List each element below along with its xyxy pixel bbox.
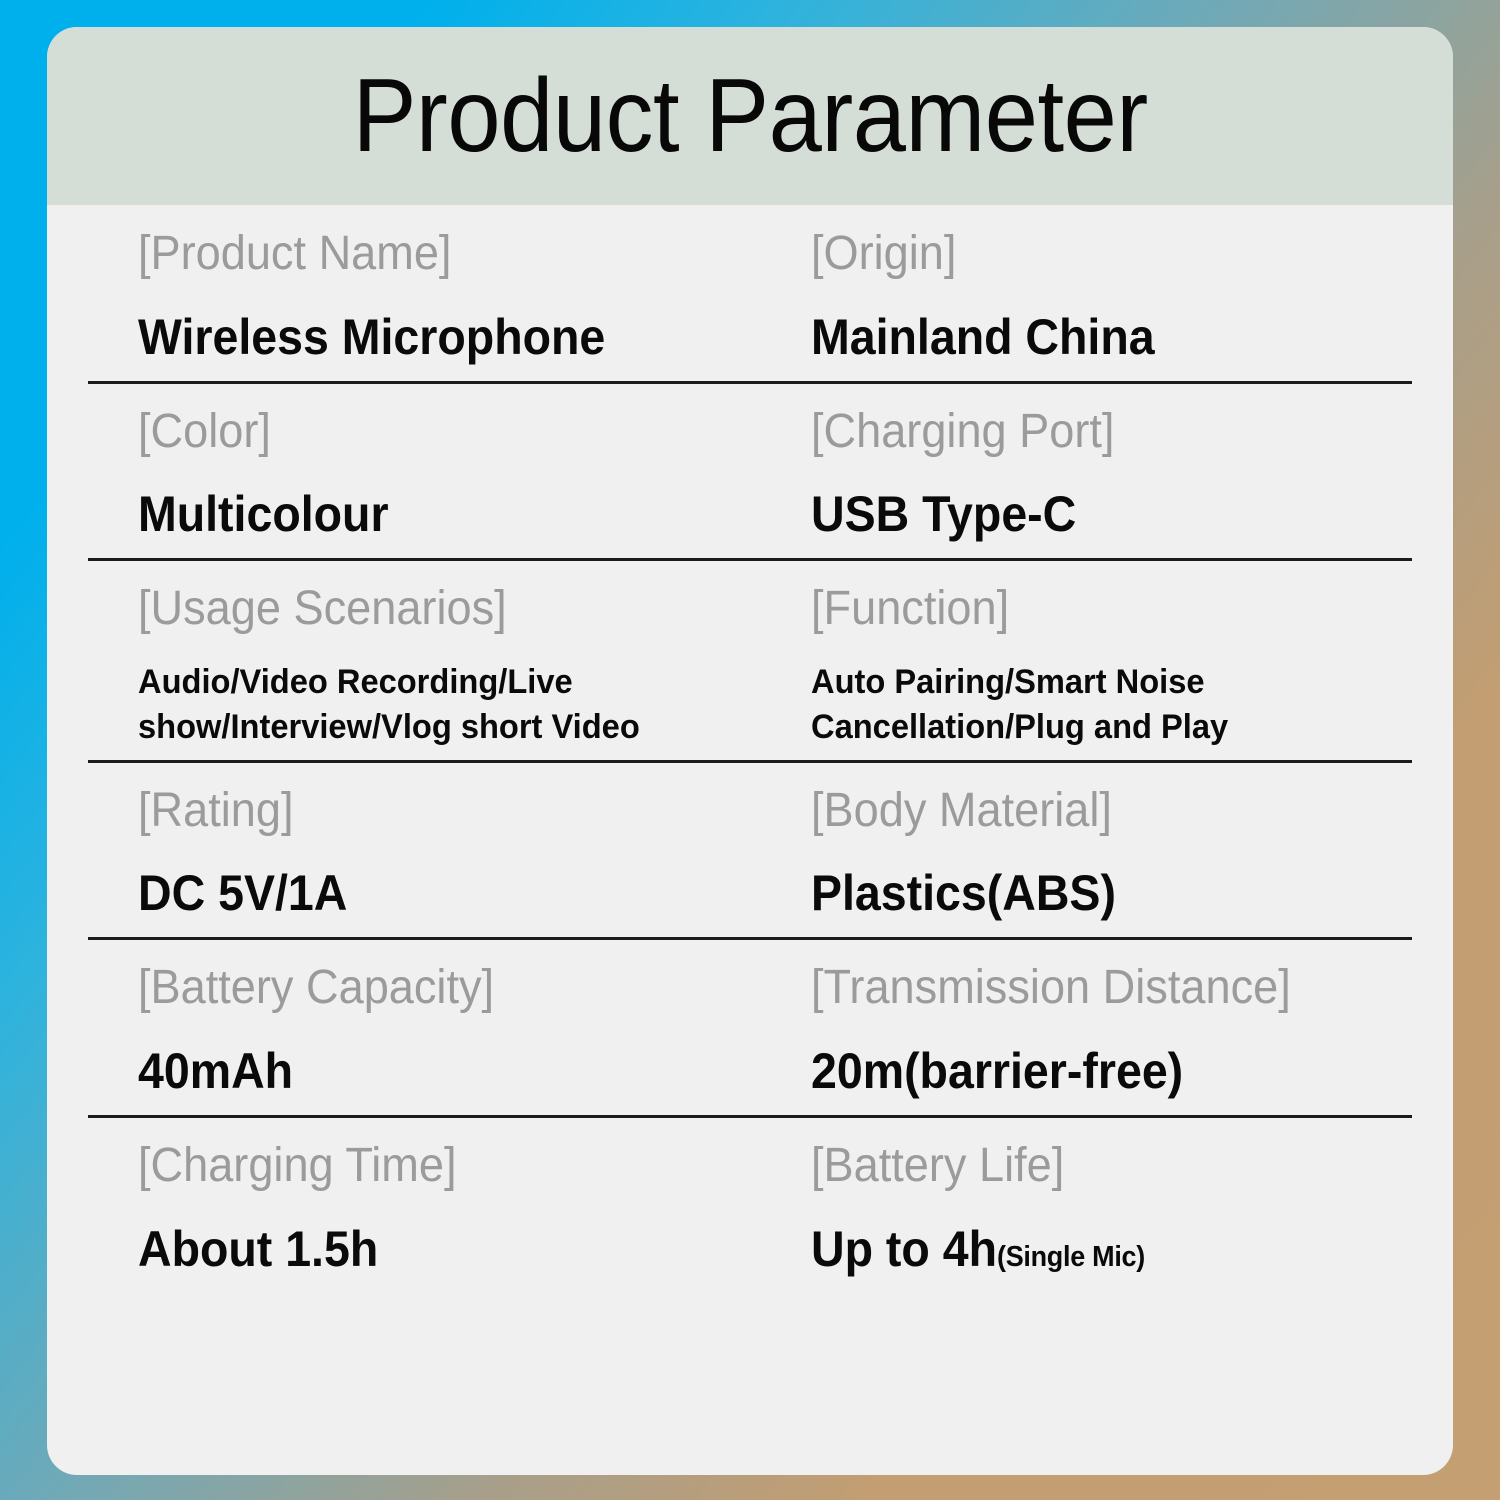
spec-value: Up to 4h(Single Mic) [811,1219,1370,1279]
spec-label: [Battery Life] [811,1138,1376,1195]
spec-value: Audio/Video Recording/Live show/Intervie… [138,660,741,750]
spec-cell-origin: [Origin] Mainland China [767,205,1412,381]
spec-cell-battery-capacity: [Battery Capacity] 40mAh [88,940,767,1115]
spec-value: DC 5V/1A [138,863,723,923]
spec-cell-color: [Color] Multicolour [88,384,767,559]
spec-cell-transmission-distance: [Transmission Distance] 20m(barrier-free… [767,940,1412,1115]
spec-value: 20m(barrier-free) [811,1041,1370,1101]
spec-value: Mainland China [811,307,1370,367]
spec-card: Product Parameter [Product Name] Wireles… [47,27,1453,1475]
spec-label: [Transmission Distance] [811,960,1376,1017]
card-header: Product Parameter [47,27,1453,205]
spec-row: [Product Name] Wireless Microphone [Orig… [88,205,1412,384]
spec-cell-charging-port: [Charging Port] USB Type-C [767,384,1412,559]
spec-cell-battery-life: [Battery Life] Up to 4h(Single Mic) [767,1118,1412,1293]
spec-cell-charging-time: [Charging Time] About 1.5h [88,1118,767,1293]
page-title: Product Parameter [352,64,1147,168]
spec-table: [Product Name] Wireless Microphone [Orig… [47,205,1453,1293]
spec-value-note: (Single Mic) [997,1241,1145,1273]
spec-cell-rating: [Rating] DC 5V/1A [88,763,767,938]
spec-row: [Charging Time] About 1.5h [Battery Life… [88,1118,1412,1293]
spec-value: Multicolour [138,484,723,544]
spec-value: Auto Pairing/Smart Noise Cancellation/Pl… [811,660,1388,750]
spec-value-main: Up to 4h [811,1221,997,1277]
spec-label: [Color] [138,404,729,461]
spec-row: [Rating] DC 5V/1A [Body Material] Plasti… [88,763,1412,941]
spec-row: [Battery Capacity] 40mAh [Transmission D… [88,940,1412,1118]
spec-label: [Body Material] [811,783,1376,840]
spec-cell-function: [Function] Auto Pairing/Smart Noise Canc… [767,561,1412,759]
spec-row: [Usage Scenarios] Audio/Video Recording/… [88,561,1412,762]
spec-row: [Color] Multicolour [Charging Port] USB … [88,384,1412,562]
spec-label: [Battery Capacity] [138,960,729,1017]
spec-value: 40mAh [138,1041,723,1101]
spec-label: [Charging Port] [811,404,1376,461]
spec-label: [Charging Time] [138,1138,729,1195]
spec-cell-product-name: [Product Name] Wireless Microphone [88,205,767,381]
spec-value: USB Type-C [811,484,1370,544]
product-parameter-page: Product Parameter [Product Name] Wireles… [0,0,1500,1500]
spec-label: [Rating] [138,783,729,840]
spec-cell-usage-scenarios: [Usage Scenarios] Audio/Video Recording/… [88,561,767,759]
spec-label: [Usage Scenarios] [138,581,729,638]
spec-value: Wireless Microphone [138,307,723,367]
spec-value: Plastics(ABS) [811,863,1370,923]
spec-label: [Function] [811,581,1376,638]
spec-value: About 1.5h [138,1219,723,1279]
spec-label: [Origin] [811,226,1376,283]
spec-cell-body-material: [Body Material] Plastics(ABS) [767,763,1412,938]
spec-label: [Product Name] [138,226,729,283]
